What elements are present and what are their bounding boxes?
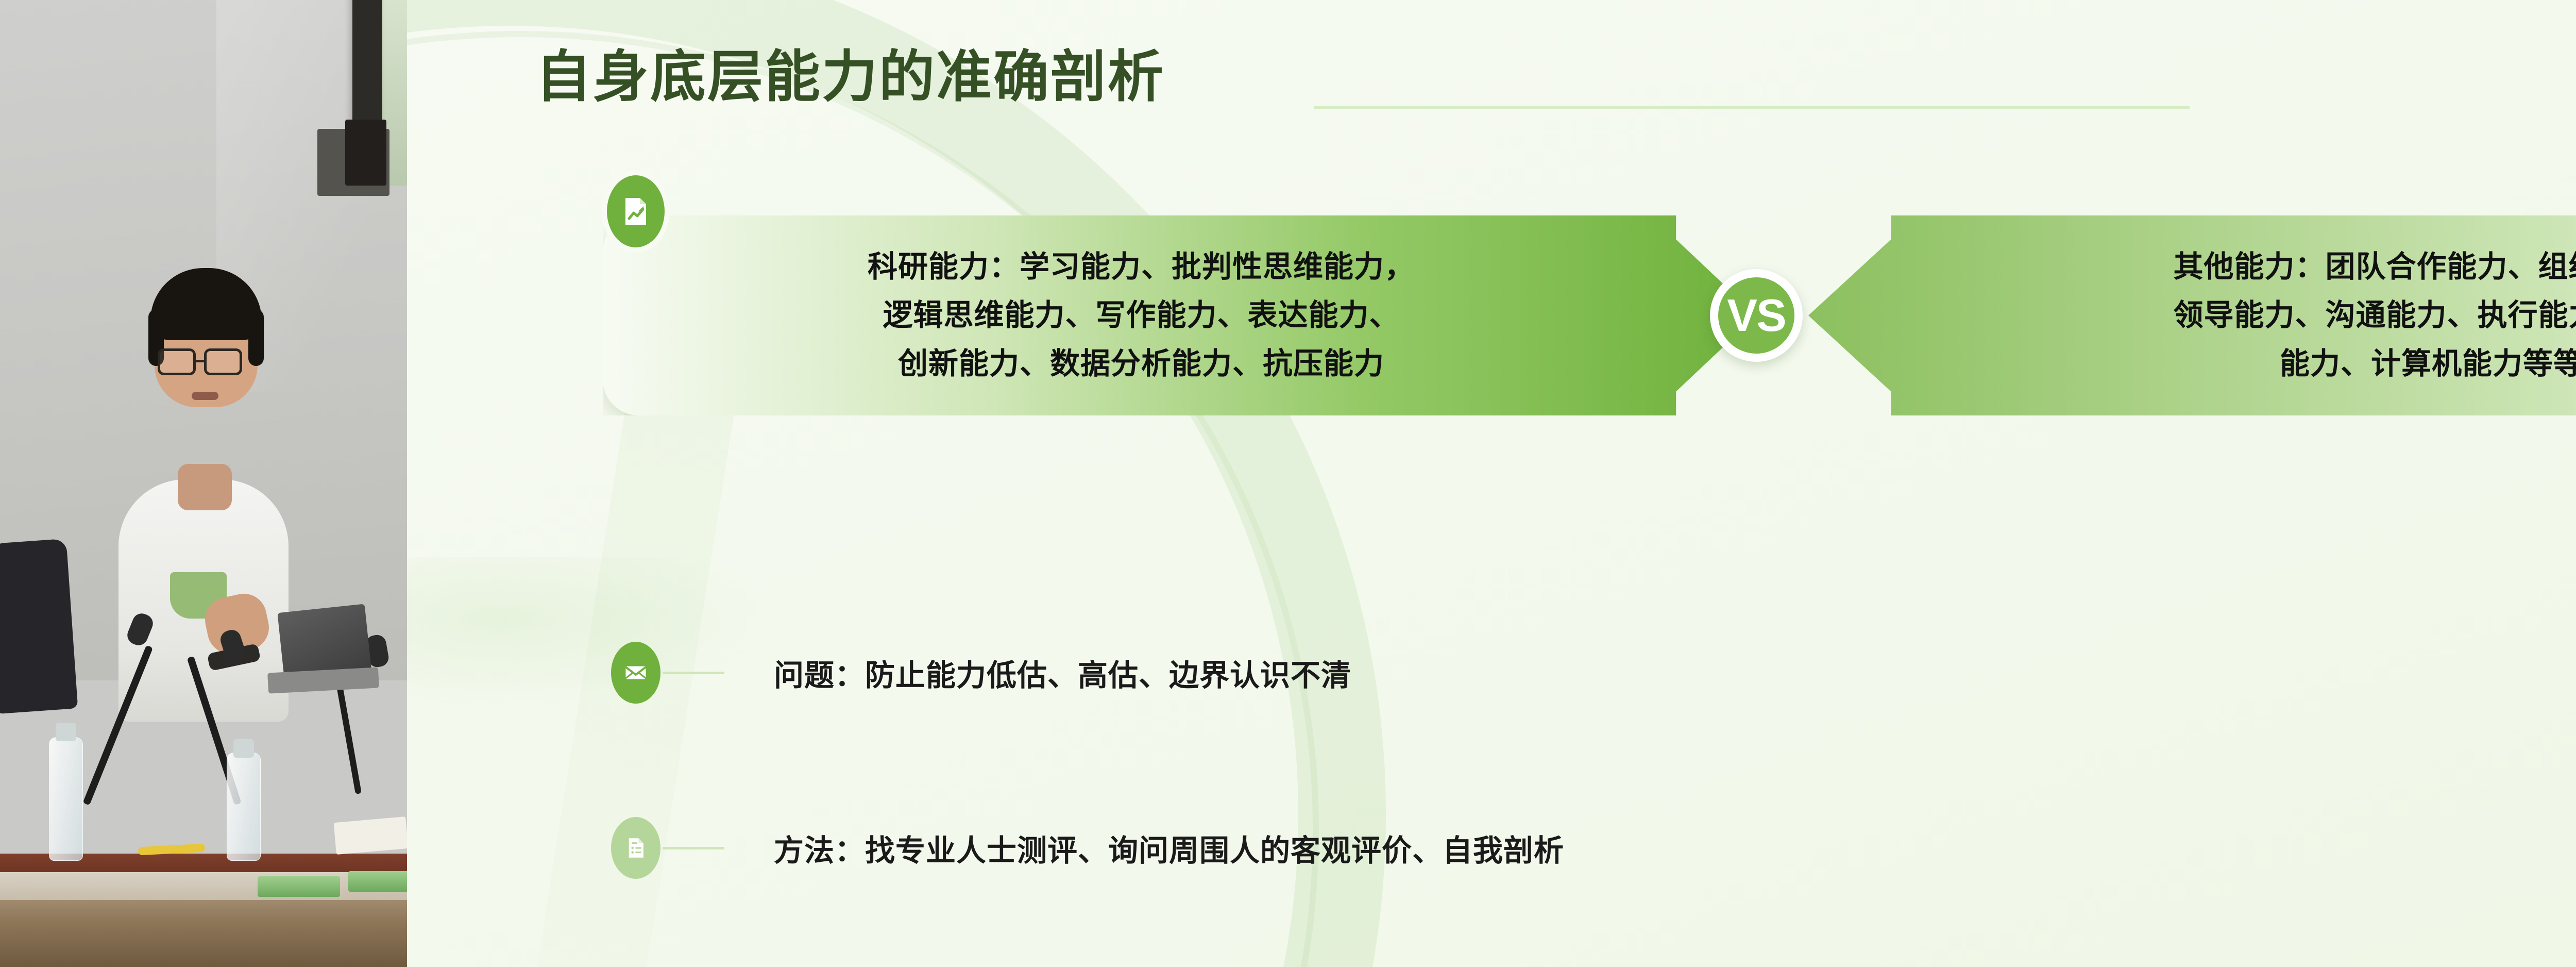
speaker-mouth <box>192 392 218 400</box>
water-bottle-1 <box>49 737 83 861</box>
comparison-block: 科研能力：学习能力、批判性思维能力， 逻辑思维能力、写作能力、表达能力、 创新能… <box>536 155 2576 412</box>
comparison-card-right[interactable]: 其他能力：团队合作能力、组织能力、 领导能力、沟通能力、执行能力、自控 能力、计… <box>1808 215 2576 415</box>
info-row-problem[interactable]: 问题：防止能力低估、高估、边界认识不清 <box>536 634 2576 711</box>
eyeglass-left-lens <box>158 348 196 375</box>
envelope-icon <box>611 642 660 704</box>
card-left-line-2: 逻辑思维能力、写作能力、表达能力、 <box>659 291 1623 340</box>
conference-speaker-photo <box>0 0 407 967</box>
slide-stage: 自身底层能力的准确剖析 科研能力：学习能力、批判性思维能力， 逻辑思维能力、写作… <box>0 0 2576 967</box>
presentation-slide: 自身底层能力的准确剖析 科研能力：学习能力、批判性思维能力， 逻辑思维能力、写作… <box>407 0 2576 967</box>
card-right-line-1: 其他能力：团队合作能力、组织能力、 <box>1932 243 2576 291</box>
info-row-method-text: 方法：找专业人士测评、询问周围人的客观评价、自我剖析 <box>724 826 2576 870</box>
card-left-line-1: 科研能力：学习能力、批判性思维能力， <box>659 243 1623 291</box>
card-left-text: 科研能力：学习能力、批判性思维能力， 逻辑思维能力、写作能力、表达能力、 创新能… <box>603 243 1757 388</box>
card-right-text: 其他能力：团队合作能力、组织能力、 领导能力、沟通能力、执行能力、自控 能力、计… <box>1808 243 2576 388</box>
document-list-icon <box>611 817 660 879</box>
info-row-problem-text: 问题：防止能力低估、高估、边界认识不清 <box>724 651 2576 694</box>
versus-label: VS <box>1727 293 1785 338</box>
versus-badge: VS <box>1710 269 1803 362</box>
card-left-line-3: 创新能力、数据分析能力、抗压能力 <box>659 340 1623 388</box>
row-connector-line-2 <box>663 847 724 849</box>
eyeglass-right-lens <box>204 348 242 375</box>
name-plate-1 <box>258 876 340 897</box>
desk-papers <box>334 816 407 855</box>
speaker-neck <box>178 464 232 510</box>
card-right-line-3: 能力、计算机能力等等 <box>1932 340 2576 388</box>
comparison-card-left[interactable]: 科研能力：学习能力、批判性思维能力， 逻辑思维能力、写作能力、表达能力、 创新能… <box>603 215 1757 415</box>
eyeglass-bridge <box>195 360 206 362</box>
water-bottle-2 <box>227 753 261 861</box>
card-right-line-2: 领导能力、沟通能力、执行能力、自控 <box>1932 291 2576 340</box>
slide-header: 自身底层能力的准确剖析 <box>407 0 2576 134</box>
water-bottle-cap-1 <box>56 723 76 741</box>
title-divider-rule <box>1314 106 2190 109</box>
speaker-hair-right <box>248 309 264 366</box>
info-row-method[interactable]: 方法：找专业人士测评、询问周围人的客观评价、自我剖析 <box>536 809 2576 887</box>
projection-screen-roller <box>345 120 386 186</box>
report-chart-icon <box>602 170 670 253</box>
name-plate-2 <box>348 871 407 892</box>
row-connector-line-1 <box>663 672 724 674</box>
water-bottle-cap-2 <box>233 739 254 758</box>
desk-wood-panel <box>0 900 407 967</box>
page-title: 自身底层能力的准确剖析 <box>536 32 1165 112</box>
chair-backrest <box>0 539 78 714</box>
